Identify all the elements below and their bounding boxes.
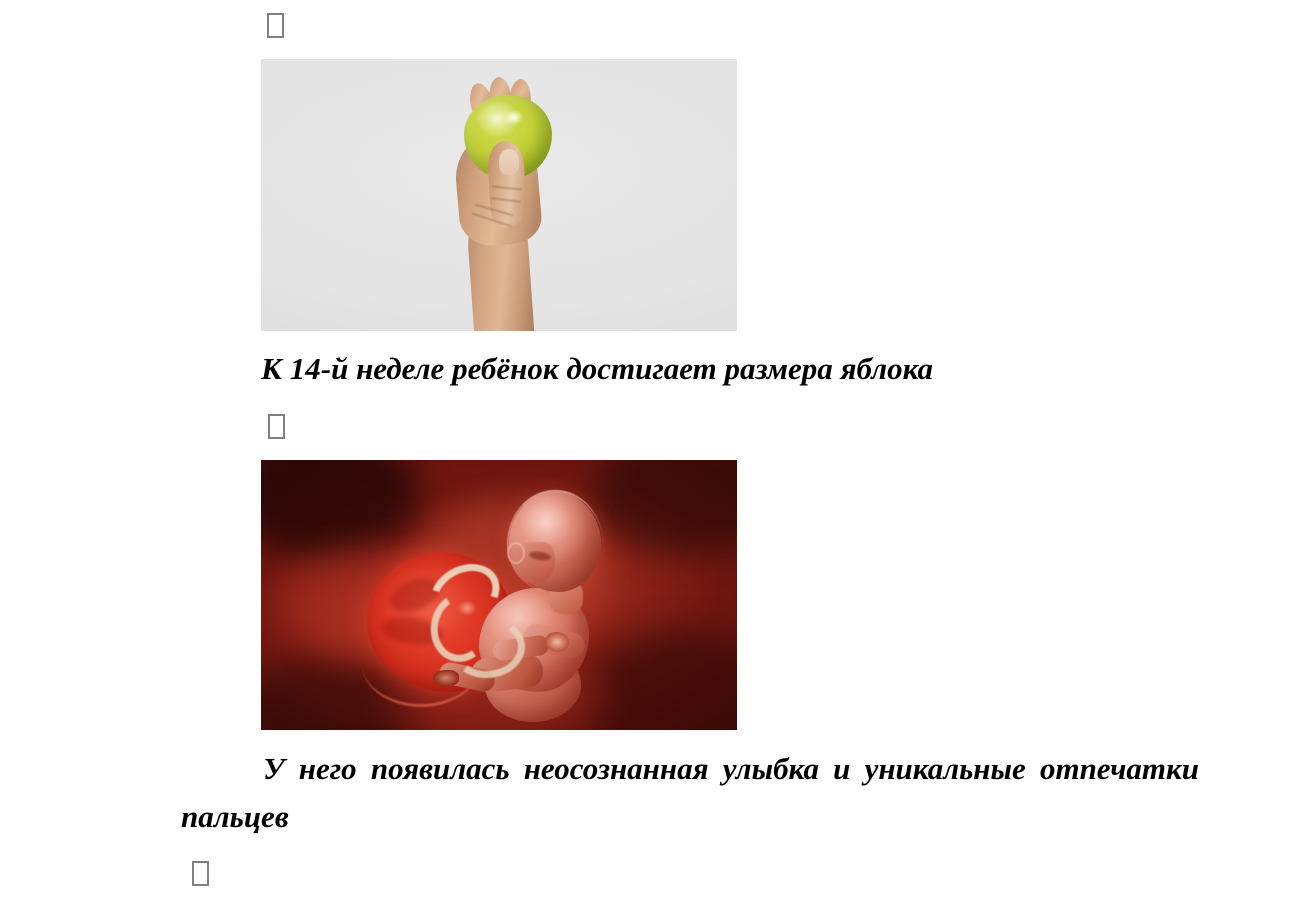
fetus-hand-shape xyxy=(545,632,569,652)
fetus-ear-shape xyxy=(507,542,525,564)
umbilical-cord-attachment xyxy=(457,600,477,616)
photo-background xyxy=(261,59,737,331)
missing-glyph-box-icon xyxy=(267,13,284,38)
thumbnail-shape xyxy=(499,149,519,175)
fetus-foot-shape xyxy=(433,670,459,686)
photo-background xyxy=(261,460,737,730)
figure-apple-in-hand xyxy=(261,59,737,331)
figure-fetus-in-womb xyxy=(261,460,737,730)
caption-apple: К 14-й неделе ребёнок достигает размера … xyxy=(261,345,933,393)
caption-fetus: У него появилась неосознанная улыбка и у… xyxy=(181,745,1199,841)
missing-glyph-box-icon xyxy=(268,414,285,439)
document-page: К 14-й неделе ребёнок достигает размера … xyxy=(0,0,1290,922)
missing-glyph-box-icon xyxy=(192,861,209,886)
womb-shadow xyxy=(591,460,737,554)
